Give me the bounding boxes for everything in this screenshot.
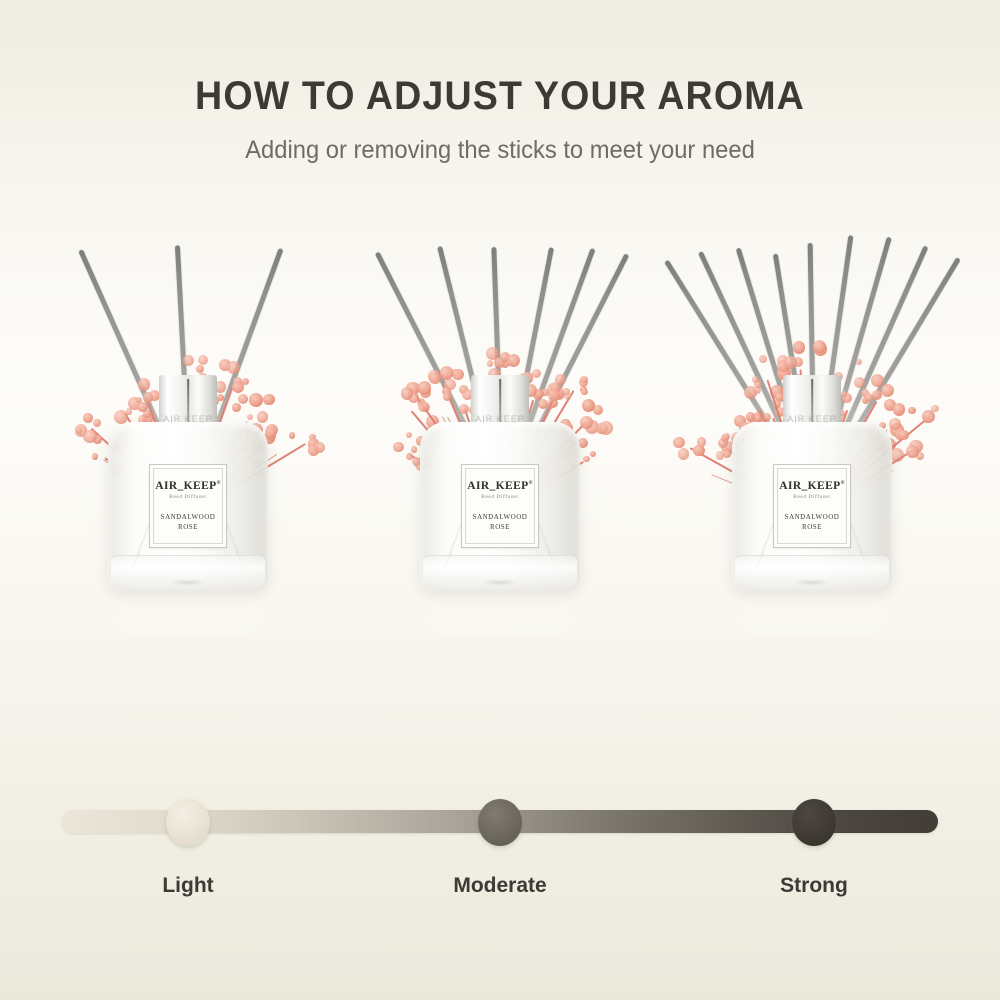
bottle-base [423,555,577,590]
flower-bloom [92,453,99,460]
bottle-reflection [113,588,263,636]
flower-bloom [673,437,684,448]
scent-line-2: ROSE [802,523,822,531]
product-label: AIR_KEEP® Reed Diffuser SANDALWOODROSE [461,464,539,548]
flower-bloom [411,446,418,453]
flower-bloom [908,407,915,414]
flower-bloom [227,361,241,375]
bottle-body: AIR_KEEP® Reed Diffuser SANDALWOODROSE [732,422,892,590]
scent-line-2: ROSE [490,523,510,531]
slider-knob-strong[interactable] [792,799,836,846]
flower-bloom [582,399,595,412]
trademark-symbol: ® [217,481,221,486]
flower-bloom [83,413,93,423]
flower-bloom [813,340,826,353]
flower-bloom [793,341,805,353]
flower-bloom [898,430,909,441]
scent-line-1: SANDALWOOD [785,513,840,521]
brand-name: AIR_KEEP® [467,480,533,492]
flower-bloom [580,416,593,429]
flower-bloom [76,427,82,433]
bottle-body: AIR_KEEP® Reed Diffuser SANDALWOODROSE [108,422,268,590]
flower-bloom [507,354,520,367]
flower-bloom [198,355,209,366]
scent-line-1: SANDALWOOD [161,513,216,521]
flower-bloom [393,442,404,453]
flower-bloom [893,403,906,416]
flower-bloom [716,451,725,460]
flower-bloom [487,360,494,367]
flower-bloom [314,442,325,453]
flower-bloom [759,355,767,363]
flower-bloom [583,456,589,462]
flower-bloom [93,419,101,427]
flower-bloom [599,421,613,435]
brand-subtitle: Reed Diffuser [169,494,206,500]
strong-diffuser: AIR KEEP AIR_KEEP® Reed Diffuser SANDALW… [662,30,962,590]
light-diffuser: AIR KEEP AIR_KEEP® Reed Diffuser SANDALW… [38,30,338,590]
brand-subtitle: Reed Diffuser [481,494,518,500]
diffuser-bottle: AIR KEEP AIR_KEEP® Reed Diffuser SANDALW… [108,375,268,590]
flower-bloom [406,432,412,438]
slider-label-moderate: Moderate [453,874,546,898]
scent-line-1: SANDALWOOD [473,513,528,521]
flower-bloom [678,448,689,459]
bottle-base [111,555,265,590]
infographic-canvas: HOW TO ADJUST YOUR AROMA Adding or remov… [0,0,1000,1000]
bottle-reflection [737,588,887,636]
flower-bloom [401,387,414,400]
slider-knob-moderate[interactable] [478,799,522,846]
flower-bloom [580,376,588,384]
bottle-reflection [425,588,575,636]
flower-bloom [856,359,863,366]
intensity-slider[interactable]: Light Moderate Strong [0,788,1000,938]
flower-bloom [784,356,797,369]
brand-text: AIR_KEEP [155,480,216,492]
scent-name: SANDALWOODROSE [473,513,528,532]
flower-bloom [183,355,194,366]
diffuser-group: AIR KEEP AIR_KEEP® Reed Diffuser SANDALW… [0,0,1000,800]
slider-knob-light[interactable] [166,799,210,846]
trademark-symbol: ® [841,481,845,486]
trademark-symbol: ® [529,481,533,486]
flower-bloom [581,389,588,396]
flower-bloom [906,445,919,458]
flower-bloom [590,451,596,457]
bottle-body: AIR_KEEP® Reed Diffuser SANDALWOODROSE [420,422,580,590]
product-label: AIR_KEEP® Reed Diffuser SANDALWOODROSE [149,464,227,548]
slider-label-strong: Strong [780,874,848,898]
scent-line-2: ROSE [178,523,198,531]
diffuser-bottle: AIR KEEP AIR_KEEP® Reed Diffuser SANDALW… [420,375,580,590]
product-label: AIR_KEEP® Reed Diffuser SANDALWOODROSE [773,464,851,548]
flower-bloom [922,410,935,423]
flower-bloom [83,430,96,443]
flower-bloom [723,450,730,457]
flower-bloom [289,432,296,439]
flower-bloom [723,433,730,440]
bottle-base [735,555,889,590]
brand-name: AIR_KEEP® [779,480,845,492]
diffuser-bottle: AIR KEEP AIR_KEEP® Reed Diffuser SANDALW… [732,375,892,590]
flower-bloom [196,365,204,373]
brand-name: AIR_KEEP® [155,480,221,492]
flower-bloom [693,445,704,456]
moderate-diffuser: AIR KEEP AIR_KEEP® Reed Diffuser SANDALW… [350,30,650,590]
brand-text: AIR_KEEP [779,480,840,492]
brand-text: AIR_KEEP [467,480,528,492]
scent-name: SANDALWOODROSE [785,513,840,532]
brand-subtitle: Reed Diffuser [793,494,830,500]
scent-name: SANDALWOODROSE [161,513,216,532]
slider-label-light: Light [162,874,213,898]
